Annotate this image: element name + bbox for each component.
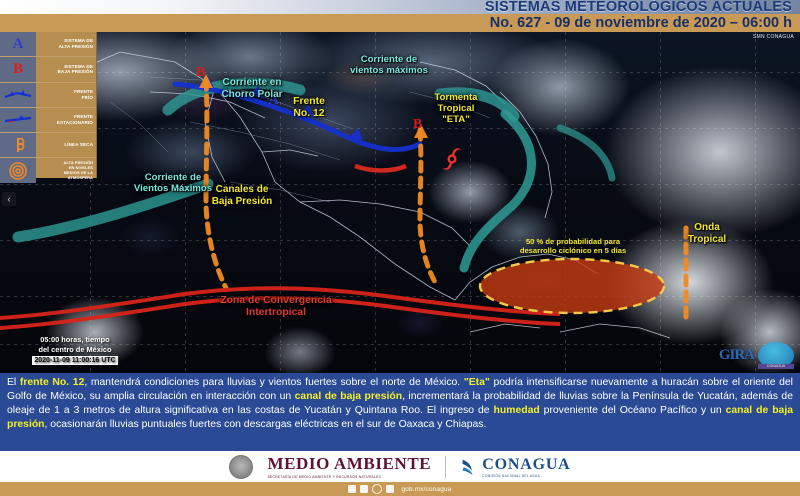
legend-label-dry-line: LÍNEA SECA (36, 142, 96, 148)
smn-watermark-text: SMN CONAGUA (753, 34, 794, 40)
summary-highlight-1: frente No. 12 (20, 377, 84, 388)
medio-ambiente-subtitle: SECRETARÍA DE MEDIO AMBIENTE Y RECURSOS … (267, 475, 381, 479)
conagua-title: CONAGUA (482, 456, 570, 474)
summary-text-8: proveniente del Océano Pacífico y un (540, 405, 726, 416)
summary-highlight-3: "Eta" (464, 377, 490, 388)
cold-front-12-label: FrenteNo. 12 (276, 96, 342, 120)
timestamp-local-text: 05:00 horas, tiempodel centro de México (9, 335, 141, 355)
conagua-eagle-icon (460, 457, 477, 476)
legend-label-mid-level-high: ALTA PRESIÓNEN NIVELESMEDIOS DE LAATMÓSF… (36, 161, 96, 181)
legend-item-cold-front: FRENTEFRÍO (0, 83, 96, 108)
tropical-storm-symbol (437, 144, 467, 174)
legend-label-high-pressure: SISTEMA DEALTA PRESIÓN (36, 38, 96, 49)
twitter-icon[interactable] (360, 485, 368, 493)
conagua-subtitle: COMISIÓN NACIONAL DEL AGUA (482, 474, 570, 478)
dry-line-icon (0, 133, 36, 157)
satellite-map[interactable]: B B A A SISTEMA DEALTA PRESIÓN B SISTEMA (0, 32, 800, 373)
mid-level-high-icon (0, 158, 36, 182)
legend-item-stationary-front: FRENTEESTACIONARIO (0, 108, 96, 133)
instagram-icon[interactable] (372, 484, 382, 494)
letter-a-blue-icon: A (0, 32, 36, 56)
map-watermark-logos: GIRA CONAGUA (719, 342, 794, 369)
legend-item-low-pressure: B SISTEMA DEBAJA PRESIÓN (0, 57, 96, 82)
cold-front-icon (0, 83, 36, 107)
conagua-logo: CONAGUA COMISIÓN NACIONAL DEL AGUA (460, 456, 570, 478)
coastline-and-synoptic-overlay: B B A (0, 32, 800, 373)
summary-text-0: El (7, 377, 20, 388)
tropical-wave-label: OndaTropical (676, 222, 738, 245)
page-subheader: No. 627 - 09 de noviembre de 2020 – 06:0… (0, 14, 800, 34)
map-timestamp: 05:00 horas, tiempodel centro de México … (9, 335, 141, 365)
legend-item-high-pressure: A SISTEMA DEALTA PRESIÓN (0, 32, 96, 57)
summary-text-10: , ocasionarán lluvias puntuales fuertes … (45, 419, 487, 430)
youtube-icon[interactable] (386, 485, 394, 493)
legend-label-cold-front: FRENTEFRÍO (36, 89, 96, 100)
conagua-watermark-logo: CONAGUA (758, 342, 794, 369)
legend-item-dry-line: LÍNEA SECA (0, 133, 96, 158)
medio-ambiente-logo: MEDIO AMBIENTE SECRETARÍA DE MEDIO AMBIE… (267, 454, 431, 479)
page-title: SISTEMAS METEOROLÓGICOS ACTUALES (485, 0, 792, 15)
facebook-icon[interactable] (348, 485, 356, 493)
conagua-watermark-label: CONAGUA (758, 364, 794, 369)
summary-highlight-7: humedad (494, 405, 540, 416)
summary-text-2: , mantendrá condiciones para lluvias y v… (84, 377, 463, 388)
page-footer: MEDIO AMBIENTE SECRETARÍA DE MEDIO AMBIE… (0, 451, 800, 482)
footer-divider (445, 456, 446, 478)
legend-label-low-pressure: SISTEMA DEBAJA PRESIÓN (36, 64, 96, 75)
weather-bulletin-page: SISTEMAS METEOROLÓGICOS ACTUALES No. 627… (0, 0, 800, 496)
tropical-storm-eta-label: TormentaTropical"ETA" (414, 92, 498, 125)
low-pressure-channels-label: Canales deBaja Presión (196, 184, 288, 207)
timestamp-utc-text: 2020-11-09 11:00:16 UTC (32, 356, 117, 365)
back-arrow-icon[interactable]: ‹ (2, 192, 16, 206)
itcz-label: Zona de ConvergenciaIntertropical (186, 295, 366, 319)
bulletin-number-date: No. 627 - 09 de noviembre de 2020 – 06:0… (490, 15, 792, 31)
legend-item-mid-level-high: ALTA PRESIÓNEN NIVELESMEDIOS DE LAATMÓSF… (0, 158, 96, 182)
gira-logo: GIRA (719, 347, 754, 364)
social-footer-bar: gob.mx/conagua (0, 482, 800, 496)
mexico-government-seal-icon (229, 455, 253, 479)
stationary-front-icon (0, 108, 36, 132)
forecast-summary-text: El frente No. 12, mantendrá condiciones … (0, 373, 800, 451)
letter-b-red-icon: B (0, 57, 36, 81)
medio-ambiente-title: MEDIO AMBIENTE (267, 454, 431, 474)
legend-label-stationary-front: FRENTEESTACIONARIO (36, 114, 96, 125)
map-legend-panel: A SISTEMA DEALTA PRESIÓN B SISTEMA DEBAJ… (0, 32, 97, 178)
max-winds-current-label-right: Corriente devientos máximos (330, 54, 448, 76)
cyclonic-development-probability-label: 50 % de probabilidad paradesarrollo cicl… (484, 238, 662, 255)
website-url[interactable]: gob.mx/conagua (401, 486, 451, 493)
summary-highlight-5: canal de baja presión (295, 391, 402, 402)
